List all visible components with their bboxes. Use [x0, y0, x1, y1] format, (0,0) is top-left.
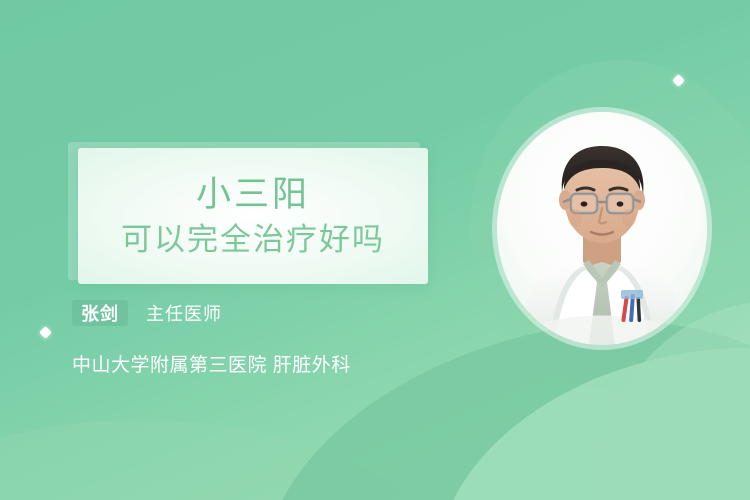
- title-panel: 小三阳 可以完全治疗好吗: [78, 148, 428, 284]
- medical-video-thumbnail: 小三阳 可以完全治疗好吗 张剑 主任医师 中山大学附属第三医院 肝脏外科: [0, 0, 750, 500]
- background-wave-lower-left: [0, 420, 460, 500]
- doctor-affiliation: 中山大学附属第三医院 肝脏外科: [72, 350, 472, 377]
- diamond-sparkle-icon-top-right: [672, 74, 685, 87]
- pocket-pens: [621, 290, 643, 322]
- doctor-name: 张剑: [81, 300, 119, 326]
- diamond-sparkle-icon-bottom-left: [39, 326, 52, 339]
- doctor-name-badge: 张剑: [72, 300, 128, 326]
- doctor-portrait-illustration: [497, 112, 707, 345]
- doctor-info: 张剑 主任医师 中山大学附属第三医院 肝脏外科: [72, 298, 472, 377]
- title-line-2: 可以完全治疗好吗: [121, 221, 385, 260]
- doctor-name-row: 张剑 主任医师: [72, 298, 472, 328]
- doctor-portrait-avatar: [497, 112, 707, 345]
- doctor-professional-title: 主任医师: [146, 300, 222, 326]
- title-line-1: 小三阳: [196, 173, 310, 217]
